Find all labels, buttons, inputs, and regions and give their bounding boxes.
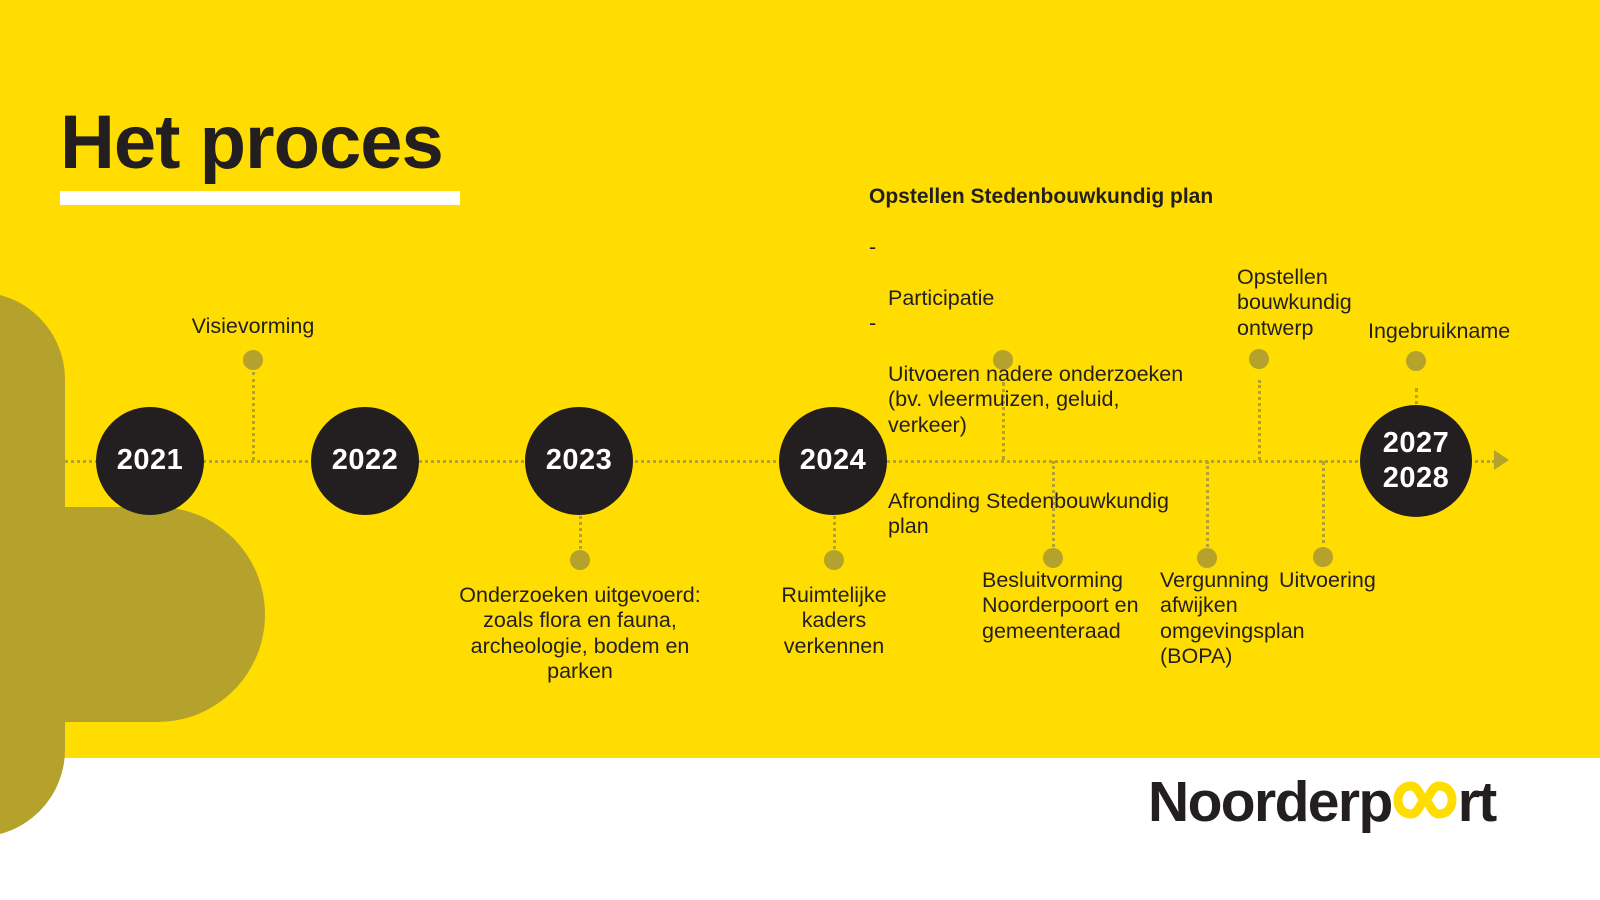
bullet-dash-icon: - <box>869 235 876 260</box>
timeline-node-2021[interactable]: 2021 <box>96 407 204 515</box>
timeline-node-2021-label: 2021 <box>117 443 184 478</box>
milestone-label-besluitvorming: Besluitvorming Noorderpoort en gemeenter… <box>982 568 1142 644</box>
connector-dot-opstellen-bouwkundig-ontwerp <box>1249 349 1269 369</box>
detail-list-item-text: Participatie <box>888 286 994 310</box>
timeline-node-2024[interactable]: 2024 <box>779 407 887 515</box>
detail-block-stedenbouwkundig-plan: Opstellen Stedenbouwkundig plan - Partic… <box>869 185 1199 539</box>
page-title: Het proces <box>60 105 680 181</box>
milestone-label-vergunning-bopa: Vergunning afwijken omgevingsplan (BOPA) <box>1160 568 1278 669</box>
timeline-node-2023-label: 2023 <box>546 443 613 478</box>
timeline-node-2024-label: 2024 <box>800 443 867 478</box>
connector-dot-ingebruikname <box>1406 351 1426 371</box>
detail-block-list: - Participatie - Uitvoeren nadere onderz… <box>869 235 1199 539</box>
connector-dot-vergunning-bopa <box>1197 548 1217 568</box>
page-title-underline <box>60 191 460 205</box>
timeline-node-2028-label: 2028 <box>1383 461 1450 496</box>
brandmark-bowl <box>0 507 265 722</box>
milestone-label-onderzoeken-uitgevoerd: Onderzoeken uitgevoerd: zoals flora en f… <box>450 583 710 684</box>
connector-dot-ruimtelijke-kaders <box>824 550 844 570</box>
noorderpoort-p-brandmark <box>0 292 270 837</box>
page-title-group: Het proces <box>60 105 680 205</box>
detail-list-item: - Participatie <box>869 235 1199 311</box>
detail-block-title: Opstellen Stedenbouwkundig plan <box>869 185 1199 209</box>
connector-dot-uitvoering <box>1313 547 1333 567</box>
detail-list-item: - Uitvoeren nadere onderzoeken (bv. vlee… <box>869 311 1199 438</box>
milestone-label-opstellen-bouwkundig-ontwerp: Opstellen bouwkundig ontwerp <box>1237 265 1367 341</box>
infinity-icon <box>1393 778 1457 827</box>
logo-text-part1: Noorderp <box>1148 774 1392 831</box>
milestone-label-ingebruikname: Ingebruikname <box>1368 319 1548 344</box>
timeline-node-2022[interactable]: 2022 <box>311 407 419 515</box>
bullet-dash-icon: - <box>869 311 876 336</box>
connector-line-visievorming <box>252 372 255 460</box>
detail-list-item-text: Afronding Stedenbouwkundig plan <box>888 489 1169 538</box>
connector-dot-onderzoeken-uitgevoerd <box>570 550 590 570</box>
detail-list-item-text: Uitvoeren nadere onderzoeken (bv. vleerm… <box>888 362 1183 437</box>
arrow-right-icon <box>1494 450 1509 470</box>
connector-line-uitvoering <box>1322 461 1325 551</box>
connector-line-opstellen-bouwkundig-ontwerp <box>1258 380 1261 460</box>
noorderpoort-logo: Noorderp rt <box>1148 772 1496 832</box>
milestone-label-visievorming: Visievorming <box>173 314 333 339</box>
timeline-node-2027-2028[interactable]: 2027 2028 <box>1360 405 1472 517</box>
milestone-label-ruimtelijke-kaders: Ruimtelijke kaders verkennen <box>763 583 905 659</box>
milestone-label-uitvoering: Uitvoering <box>1279 568 1399 593</box>
connector-dot-besluitvorming <box>1043 548 1063 568</box>
logo-text-part2: rt <box>1458 774 1496 831</box>
timeline-node-2022-label: 2022 <box>332 443 399 478</box>
connector-line-vergunning-bopa <box>1206 461 1209 553</box>
timeline-axis <box>60 460 1495 463</box>
slide-canvas: Het proces 2021 2022 2023 2024 2027 2028… <box>0 0 1600 900</box>
detail-list-item: - Afronding Stedenbouwkundig plan <box>869 438 1199 539</box>
connector-dot-visievorming <box>243 350 263 370</box>
timeline-node-2023[interactable]: 2023 <box>525 407 633 515</box>
timeline-node-2027-label: 2027 <box>1383 426 1450 461</box>
